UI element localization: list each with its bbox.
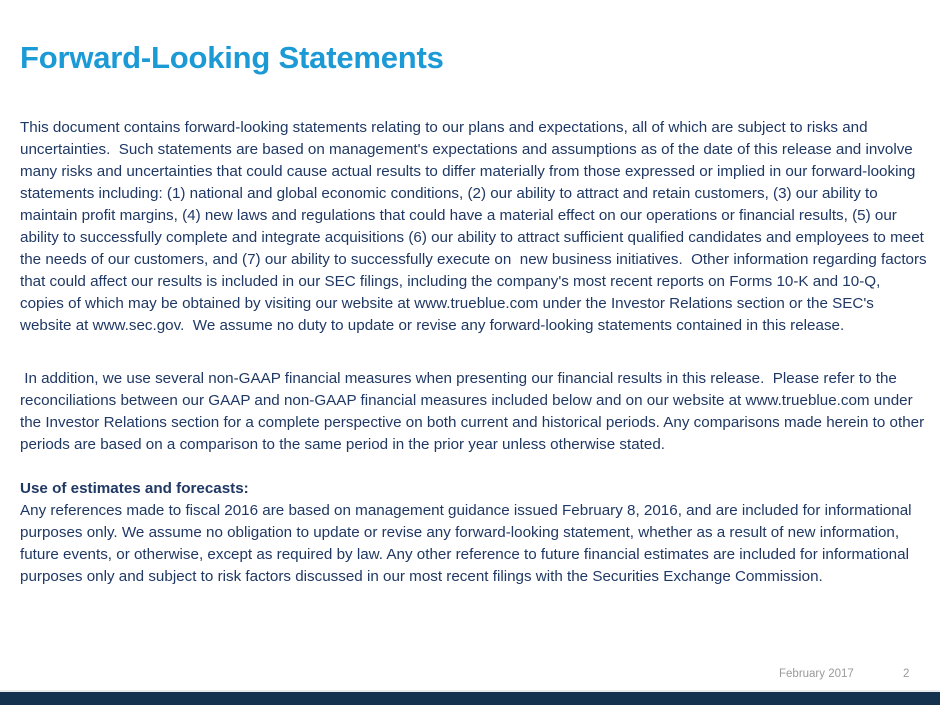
slide-canvas: Forward-Looking Statements This document… <box>0 0 940 705</box>
paragraph-line: maintain profit margins, (4) new laws an… <box>20 205 922 227</box>
paragraph-line: many risks and uncertainties that could … <box>20 161 922 183</box>
paragraph-line: that could affect our results is include… <box>20 271 922 293</box>
paragraph-non-gaap-measures: In addition, we use several non-GAAP fin… <box>20 368 922 456</box>
paragraph-line: ability to successfully complete and int… <box>20 227 922 249</box>
paragraph-line: periods are based on a comparison to the… <box>20 434 922 456</box>
page-title: Forward-Looking Statements <box>20 40 444 76</box>
paragraph-line: the needs of our customers, and (7) our … <box>20 249 922 271</box>
paragraph-line: This document contains forward-looking s… <box>20 117 922 139</box>
paragraph-line: purposes only. We assume no obligation t… <box>20 522 922 544</box>
footer-page-number: 2 <box>903 668 909 680</box>
paragraph-line: the Investor Relations section for a com… <box>20 412 922 434</box>
footer-date: February 2017 <box>779 668 854 680</box>
paragraph-line: website at www.sec.gov. We assume no dut… <box>20 315 922 337</box>
paragraph-forward-looking-statements: This document contains forward-looking s… <box>20 117 922 337</box>
paragraph-use-of-estimates: Use of estimates and forecasts: Any refe… <box>20 478 922 588</box>
paragraph-line: copies of which may be obtained by visit… <box>20 293 922 315</box>
paragraph-line: reconciliations between our GAAP and non… <box>20 390 922 412</box>
paragraph-line: Any references made to fiscal 2016 are b… <box>20 500 922 522</box>
footer-accent-bar <box>0 692 940 705</box>
paragraph-line: statements including: (1) national and g… <box>20 183 922 205</box>
section-heading-use-of-estimates: Use of estimates and forecasts: <box>20 478 922 500</box>
paragraph-line: future events, or otherwise, except as r… <box>20 544 922 566</box>
paragraph-line: uncertainties. Such statements are based… <box>20 139 922 161</box>
paragraph-line: purposes only and subject to risk factor… <box>20 566 922 588</box>
paragraph-line: In addition, we use several non-GAAP fin… <box>20 368 922 390</box>
